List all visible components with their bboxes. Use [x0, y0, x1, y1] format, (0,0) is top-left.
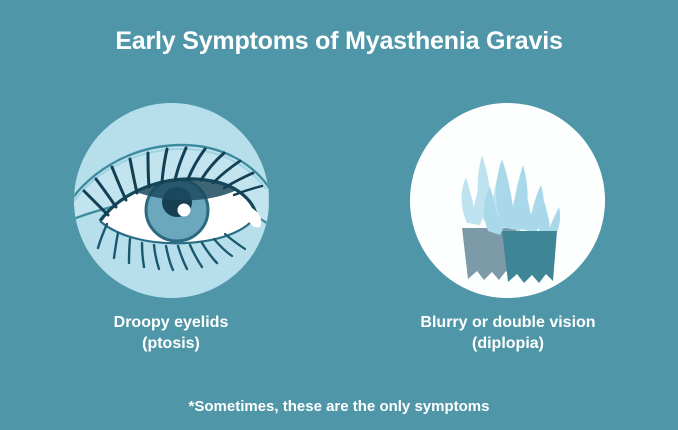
candle-scene [410, 103, 605, 298]
caption-diplopia-line2: (diplopia) [368, 333, 648, 354]
caption-ptosis-line2: (ptosis) [31, 333, 311, 354]
caption-diplopia-line1: Blurry or double vision [420, 314, 595, 331]
infographic-canvas: Early Symptoms of Myasthenia Gravis [0, 0, 678, 430]
page-title: Early Symptoms of Myasthenia Gravis [0, 27, 678, 56]
caption-ptosis: Droopy eyelids (ptosis) [31, 312, 311, 354]
symptom-panel-ptosis [74, 103, 269, 298]
caption-diplopia: Blurry or double vision (diplopia) [368, 312, 648, 354]
double-candles-illustration [410, 103, 605, 298]
footnote-text: *Sometimes, these are the only symptoms [0, 398, 678, 415]
eye-highlight [178, 204, 191, 217]
eye-scene [74, 103, 269, 298]
main-candle-body [502, 231, 557, 283]
symptom-panel-diplopia [410, 103, 605, 298]
droopy-eye-illustration [74, 103, 269, 298]
caption-ptosis-line1: Droopy eyelids [114, 314, 229, 331]
